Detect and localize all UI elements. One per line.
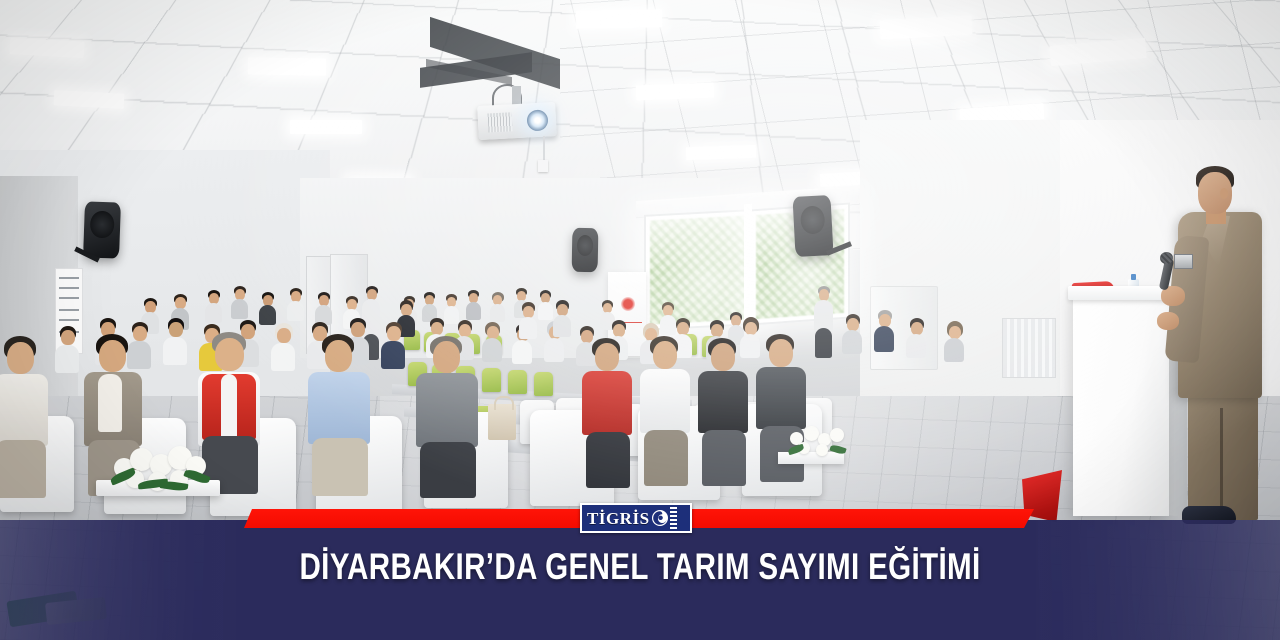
projector-hanging-wire xyxy=(543,136,545,162)
flower-arrangement-right xyxy=(786,424,848,460)
trouser-seam xyxy=(1220,408,1223,520)
wall-radiator xyxy=(1002,318,1056,378)
ceiling-light-panel xyxy=(290,120,362,134)
event-photograph xyxy=(0,0,1280,640)
grey-polo xyxy=(416,373,478,447)
presenter-trousers xyxy=(1188,378,1258,520)
ministry-emblem-icon xyxy=(620,296,636,312)
speaker-podium xyxy=(1073,292,1169,516)
red-polo xyxy=(582,371,632,435)
window-mullion xyxy=(744,204,752,327)
projector-lens xyxy=(526,109,548,131)
projector-vent xyxy=(488,112,513,132)
ceiling-light-panel xyxy=(248,57,326,75)
presenter-ear xyxy=(1220,188,1228,199)
blue-shirt xyxy=(308,372,370,444)
ceiling-projector xyxy=(477,102,557,140)
flower-arrangement-front xyxy=(112,444,208,490)
ceiling-light-panel xyxy=(636,83,714,101)
projector-tag xyxy=(538,160,548,172)
presenter-hand xyxy=(1157,312,1179,330)
microphone-head-icon xyxy=(1160,252,1173,264)
ceiling-light-panel xyxy=(686,145,756,160)
microphone-flag xyxy=(1174,254,1193,269)
wall-speaker-left xyxy=(83,201,121,258)
news-photo-card: TİGRİS DİYARBAKIR’DA GENEL TARIM SAYIMI … xyxy=(0,0,1280,640)
tote-bag-handle xyxy=(494,396,514,410)
ceiling-light-panel xyxy=(576,9,662,28)
wall-speaker-center xyxy=(572,228,599,272)
presenter-shoe xyxy=(1182,506,1236,524)
wall-speaker-right xyxy=(792,195,833,257)
